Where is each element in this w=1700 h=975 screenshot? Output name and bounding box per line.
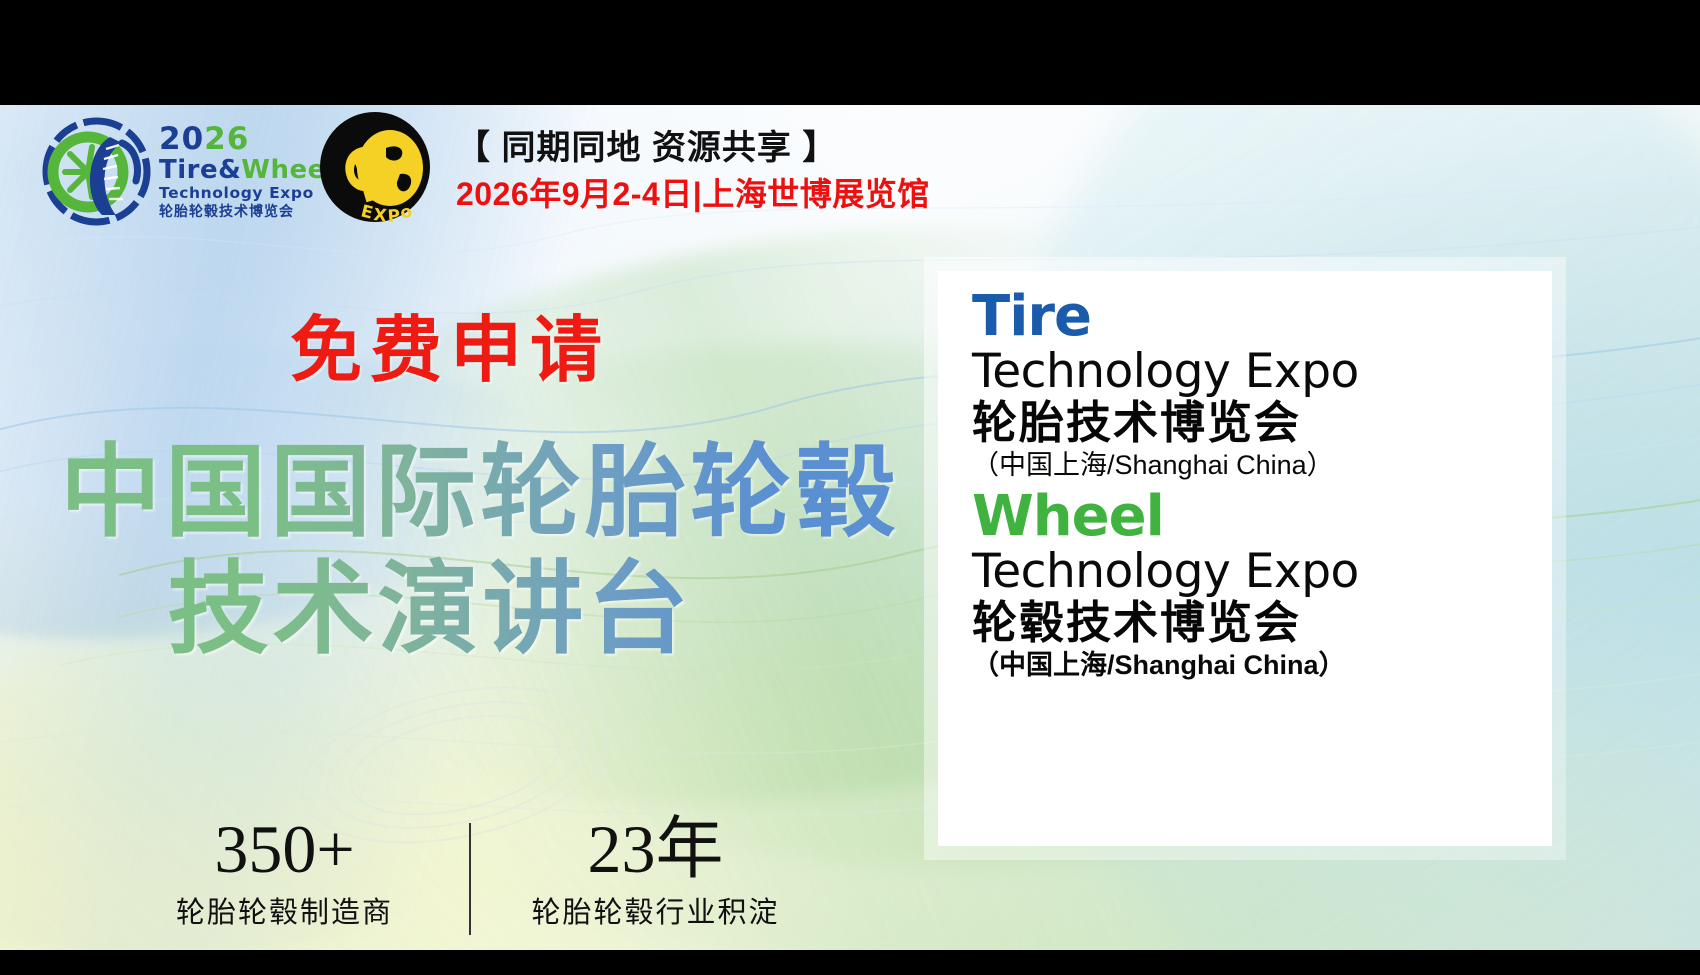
svg-text:X: X (372, 205, 387, 226)
page-title: 中国国际轮胎轮毂 技术演讲台 (60, 435, 930, 669)
artwork-area: 2026 Tire&Wheel Technology Expo 轮胎轮毂技术博览… (0, 105, 1700, 950)
logo-name-tire: Tire (159, 155, 218, 185)
logo-year: 2026 (159, 124, 335, 155)
wheel-brand-title: Wheel (972, 489, 1530, 545)
page-title-line-2: 技术演讲台 (60, 552, 930, 669)
expo-info-panel-inner: Tire Technology Expo 轮胎技术博览会 （中国上海/Shang… (938, 271, 1552, 846)
logo-name: Tire&Wheel (159, 157, 335, 183)
logo-name-amp: & (218, 155, 241, 185)
tire-expo-location: （中国上海/Shanghai China） (972, 450, 1530, 481)
tire-brand-title: Tire (972, 289, 1530, 345)
stat-label: 轮胎轮毂行业积淀 (471, 889, 840, 931)
wheel-expo-name-cn: 轮毂技术博览会 (972, 598, 1530, 648)
logo-tagline-cn: 轮胎轮毂技术博览会 (159, 204, 335, 218)
wheel-expo-location: （中国上海/Shanghai China） (972, 650, 1530, 681)
stat-item: 23年 轮胎轮毂行业积淀 (471, 815, 840, 931)
expo-info-panel: Tire Technology Expo 轮胎技术博览会 （中国上海/Shang… (924, 257, 1566, 860)
header-text-block: 【 同期同地 资源共享 】 2026年9月2-4日|上海世博展览馆 (456, 128, 1700, 213)
logo-tagline-en: Technology Expo (159, 186, 335, 202)
stat-label: 轮胎轮毂制造商 (100, 889, 469, 931)
tire-wheel-circular-logo-icon (40, 115, 153, 228)
logo-year-part-b: 26 (204, 121, 249, 157)
page-title-line-1: 中国国际轮胎轮毂 (60, 435, 930, 552)
letterbox-bottom (0, 950, 1700, 975)
tire-wheel-expo-logo: 2026 Tire&Wheel Technology Expo 轮胎轮毂技术博览… (40, 111, 290, 231)
free-apply-headline: 免费申请 (290, 315, 610, 387)
wheel-tech-expo-label: Technology Expo (972, 547, 1530, 596)
stat-value: 350+ (100, 815, 469, 883)
stats-row: 350+ 轮胎轮毂制造商 23年 轮胎轮毂行业积淀 (100, 815, 840, 935)
stat-item: 350+ 轮胎轮毂制造商 (100, 815, 469, 931)
main-content-left: 免费申请 中国国际轮胎轮毂 技术演讲台 350+ 轮胎轮毂制造商 23年 轮胎轮… (0, 255, 930, 950)
header-date-venue: 2026年9月2-4日|上海世博展览馆 (456, 174, 1700, 214)
tire-tech-expo-label: Technology Expo (972, 347, 1530, 396)
citexpo-smiley-logo-icon: E X P o (316, 112, 434, 230)
tire-expo-name-cn: 轮胎技术博览会 (972, 398, 1530, 448)
stat-value: 23年 (471, 815, 840, 883)
poster-canvas: 2026 Tire&Wheel Technology Expo 轮胎轮毂技术博览… (0, 0, 1700, 975)
logo-year-part-a: 20 (159, 121, 204, 157)
header-bar: 2026 Tire&Wheel Technology Expo 轮胎轮毂技术博览… (0, 105, 1700, 237)
letterbox-top (0, 0, 1700, 105)
tire-wheel-logo-text: 2026 Tire&Wheel Technology Expo 轮胎轮毂技术博览… (159, 124, 335, 218)
header-slogan: 【 同期同地 资源共享 】 (456, 128, 1700, 169)
